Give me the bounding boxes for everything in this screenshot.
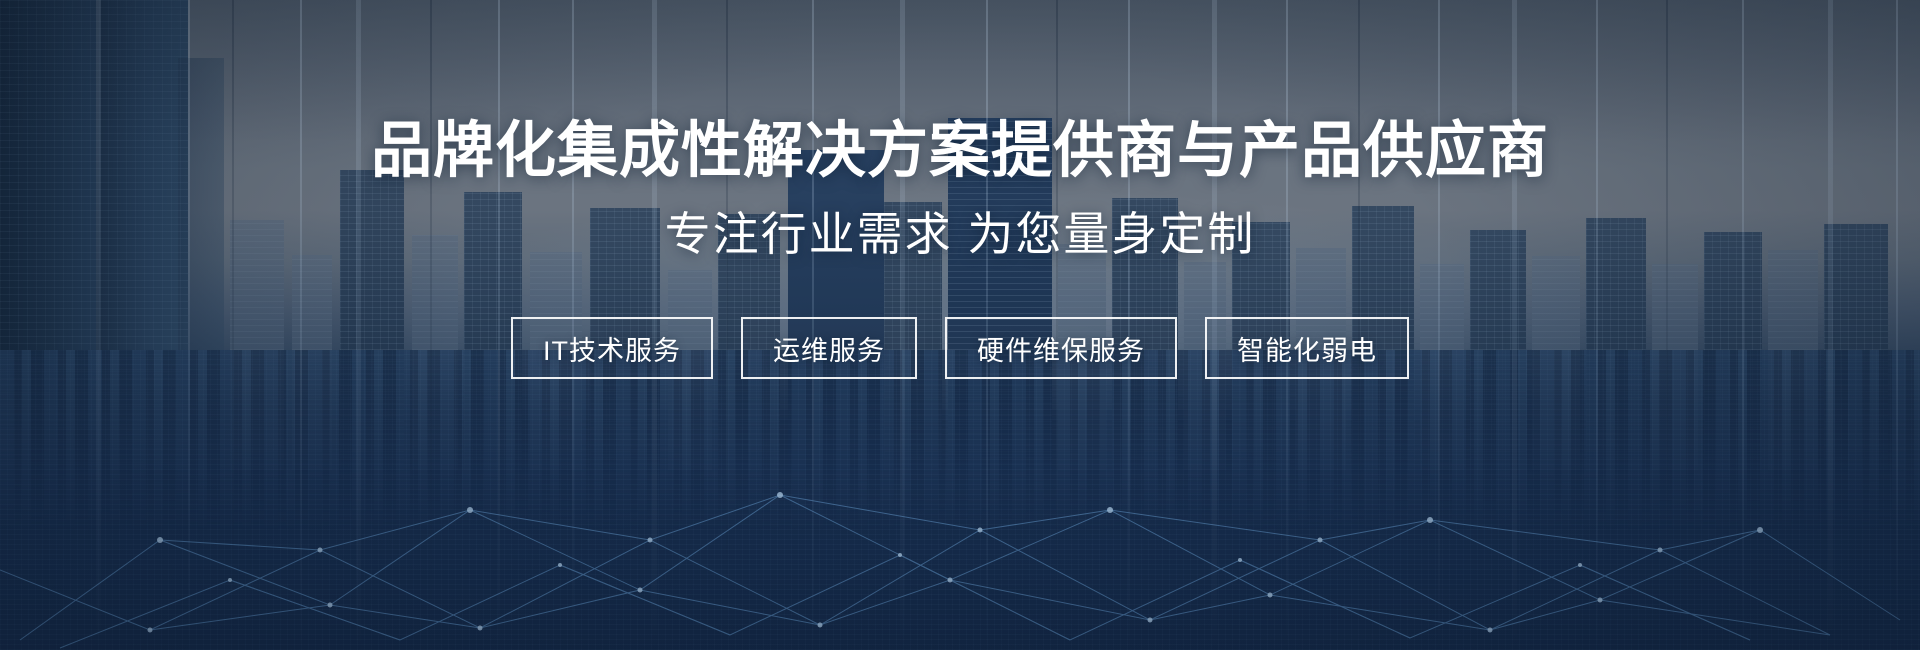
- banner-headline: 品牌化集成性解决方案提供商与产品供应商: [371, 120, 1549, 181]
- service-tag-row: IT技术服务 运维服务 硬件维保服务 智能化弱电: [511, 317, 1409, 379]
- service-tag-label: 硬件维保服务: [977, 329, 1145, 368]
- banner-content: 品牌化集成性解决方案提供商与产品供应商 专注行业需求 为您量身定制 IT技术服务…: [0, 0, 1920, 650]
- service-tag-label: IT技术服务: [543, 329, 681, 368]
- service-tag-intelligent-lowvoltage[interactable]: 智能化弱电: [1205, 317, 1409, 379]
- service-tag-hardware-maintenance[interactable]: 硬件维保服务: [945, 317, 1177, 379]
- hero-banner: 品牌化集成性解决方案提供商与产品供应商 专注行业需求 为您量身定制 IT技术服务…: [0, 0, 1920, 650]
- service-tag-ops[interactable]: 运维服务: [741, 317, 917, 379]
- service-tag-label: 智能化弱电: [1237, 329, 1377, 368]
- service-tag-it[interactable]: IT技术服务: [511, 317, 713, 379]
- service-tag-label: 运维服务: [773, 329, 885, 368]
- banner-subheadline: 专注行业需求 为您量身定制: [665, 211, 1256, 257]
